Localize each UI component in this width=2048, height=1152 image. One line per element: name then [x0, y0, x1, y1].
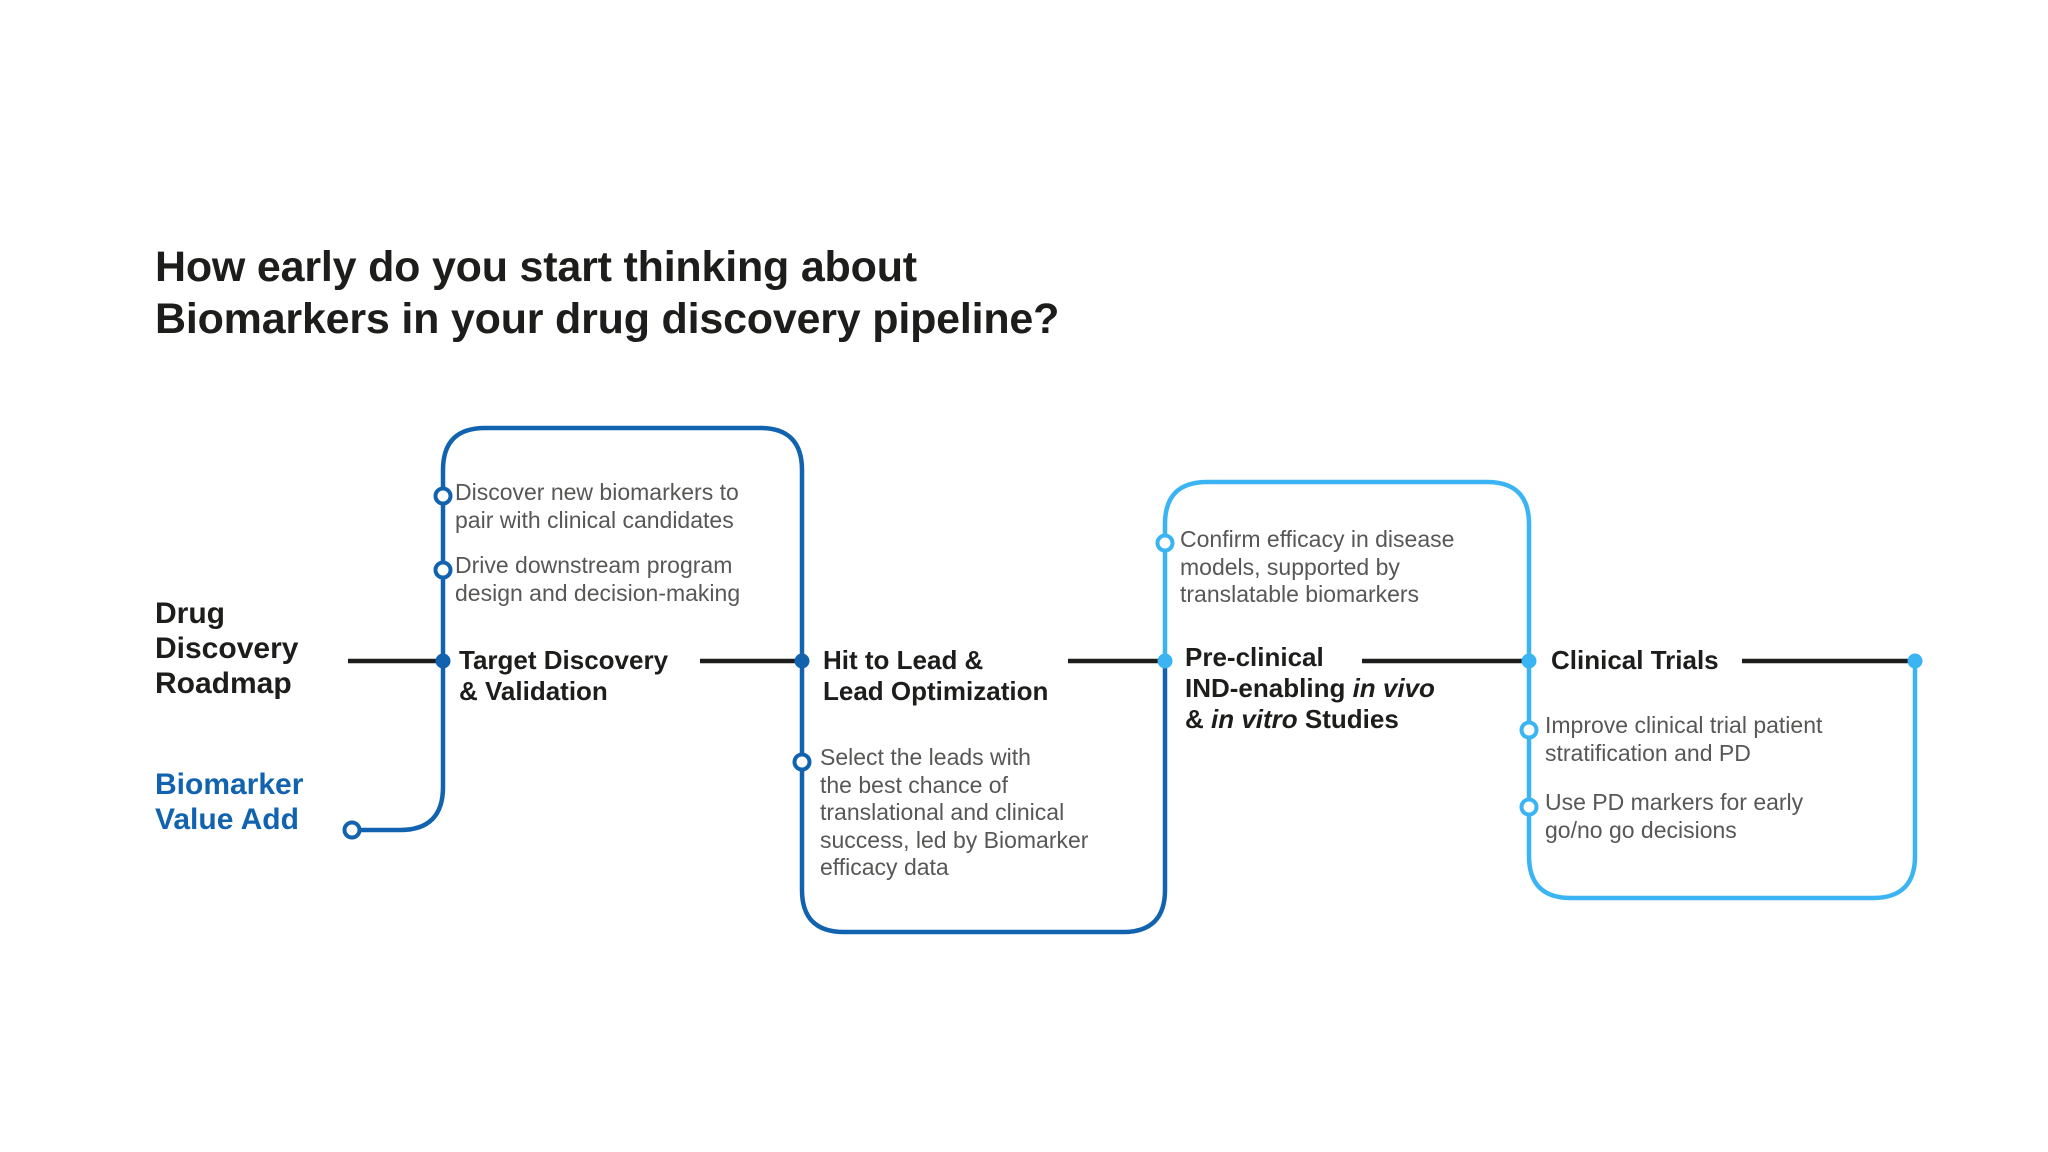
stage-title-target-discovery[interactable]: Target Discovery & Validation [459, 645, 719, 707]
bullet-marker-3-0 [1522, 723, 1537, 738]
stage-node-pre-clinical[interactable] [1158, 654, 1173, 669]
roadmap-axis-label: Drug Discovery Roadmap [155, 597, 298, 701]
bullet-clinical-trials-1: Improve clinical trial patient stratific… [1545, 712, 1895, 767]
bullet-marker-0-0 [436, 489, 451, 504]
bullet-target-discovery-1: Discover new biomarkers to pair with cli… [455, 479, 795, 534]
stage-node-clinical-trials[interactable] [1522, 654, 1537, 669]
bullet-marker-0-1 [436, 563, 451, 578]
stage-node-hit-to-lead[interactable] [795, 654, 810, 669]
stage-title-hit-to-lead[interactable]: Hit to Lead & Lead Optimization [823, 645, 1093, 707]
value-add-branch-marker [345, 823, 360, 838]
stage-title-clinical-trials[interactable]: Clinical Trials [1551, 645, 1811, 676]
biomarker-value-add-label: Biomarker Value Add [155, 768, 303, 838]
bullet-target-discovery-2: Drive downstream program design and deci… [455, 552, 795, 607]
diagram-canvas: How early do you start thinking about Bi… [0, 0, 2048, 1152]
bullet-hit-to-lead-1: Select the leads with the best chance of… [820, 744, 1150, 882]
stage-node-target-discovery[interactable] [436, 654, 451, 669]
stage-title-pre-clinical[interactable]: Pre-clinical IND-enabling in vivo & in v… [1185, 642, 1475, 736]
bullet-marker-1-0 [795, 755, 810, 770]
roadmap-graphic [0, 0, 2048, 1152]
stage-4-loop-path [1529, 661, 1915, 898]
roadmap-end-node [1908, 654, 1923, 669]
bullet-pre-clinical-1: Confirm efficacy in disease models, supp… [1180, 526, 1520, 609]
bullet-marker-2-0 [1158, 536, 1173, 551]
bullet-clinical-trials-2: Use PD markers for early go/no go decisi… [1545, 789, 1895, 844]
bullet-marker-3-1 [1522, 800, 1537, 815]
